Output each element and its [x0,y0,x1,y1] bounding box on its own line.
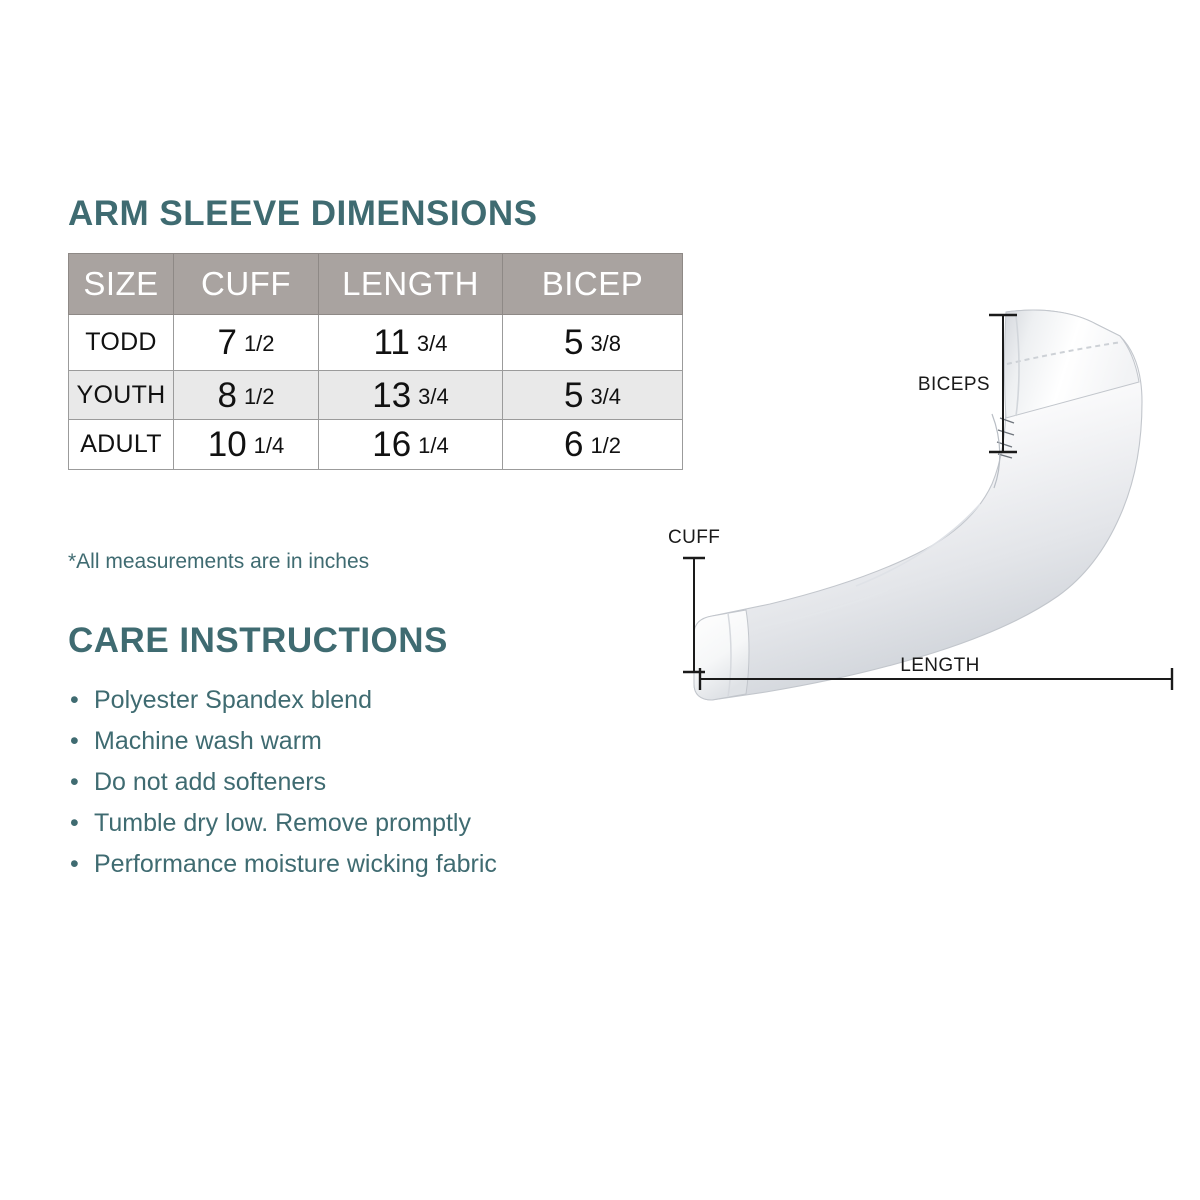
list-item: Do not add softeners [68,762,688,803]
cell-cuff: 71/2 [174,315,319,371]
list-item: Tumble dry low. Remove promptly [68,803,688,844]
cell-length: 133/4 [319,371,503,420]
biceps-label: BICEPS [918,374,990,395]
list-item: Performance moisture wicking fabric [68,844,688,885]
value-whole: 11 [374,323,410,362]
cell-length: 113/4 [319,315,503,371]
value-whole: 5 [564,376,583,415]
value-whole: 7 [217,323,236,362]
value-fraction: 3/8 [590,331,621,356]
table-row: YOUTH 81/2 133/4 53/4 [69,371,683,420]
column-header-length: LENGTH [319,254,503,315]
column-header-cuff: CUFF [174,254,319,315]
arm-sleeve-illustration: BICEPS CUFF LENGTH [650,290,1190,710]
list-item: Machine wash warm [68,721,688,762]
cell-size: YOUTH [69,371,174,420]
value-whole: 10 [208,425,247,464]
cell-length: 161/4 [319,420,503,470]
cell-size: TODD [69,315,174,371]
value-whole: 8 [217,376,236,415]
cell-size: ADULT [69,420,174,470]
page-title: ARM SLEEVE DIMENSIONS [68,196,688,231]
value-fraction: 1/4 [418,433,449,458]
value-fraction: 1/4 [254,433,285,458]
sleeve-cuff-hem [694,610,749,700]
cell-cuff: 81/2 [174,371,319,420]
measurements-note: *All measurements are in inches [68,551,688,572]
column-header-size: SIZE [69,254,174,315]
care-instructions-title: CARE INSTRUCTIONS [68,623,688,658]
sleeve-graphic [694,310,1142,700]
table-row: TODD 71/2 113/4 53/8 [69,315,683,371]
table-row: ADULT 101/4 161/4 61/2 [69,420,683,470]
cell-cuff: 101/4 [174,420,319,470]
value-fraction: 1/2 [590,433,621,458]
value-fraction: 3/4 [590,384,621,409]
value-fraction: 3/4 [418,384,449,409]
value-fraction: 1/2 [244,384,275,409]
value-fraction: 1/2 [244,331,275,356]
length-label: LENGTH [900,655,979,676]
size-chart-table: SIZE CUFF LENGTH BICEP TODD 71/2 113/4 [68,253,683,470]
care-instructions-list: Polyester Spandex blend Machine wash war… [68,680,688,885]
list-item: Polyester Spandex blend [68,680,688,721]
value-fraction: 3/4 [417,331,448,356]
cuff-label: CUFF [668,527,720,548]
value-whole: 5 [564,323,583,362]
left-content-panel: ARM SLEEVE DIMENSIONS SIZE CUFF LENGTH B… [68,196,688,885]
value-whole: 13 [372,376,411,415]
value-whole: 6 [564,425,583,464]
biceps-dimension: BICEPS [918,315,1017,452]
table-header-row: SIZE CUFF LENGTH BICEP [69,254,683,315]
value-whole: 16 [372,425,411,464]
